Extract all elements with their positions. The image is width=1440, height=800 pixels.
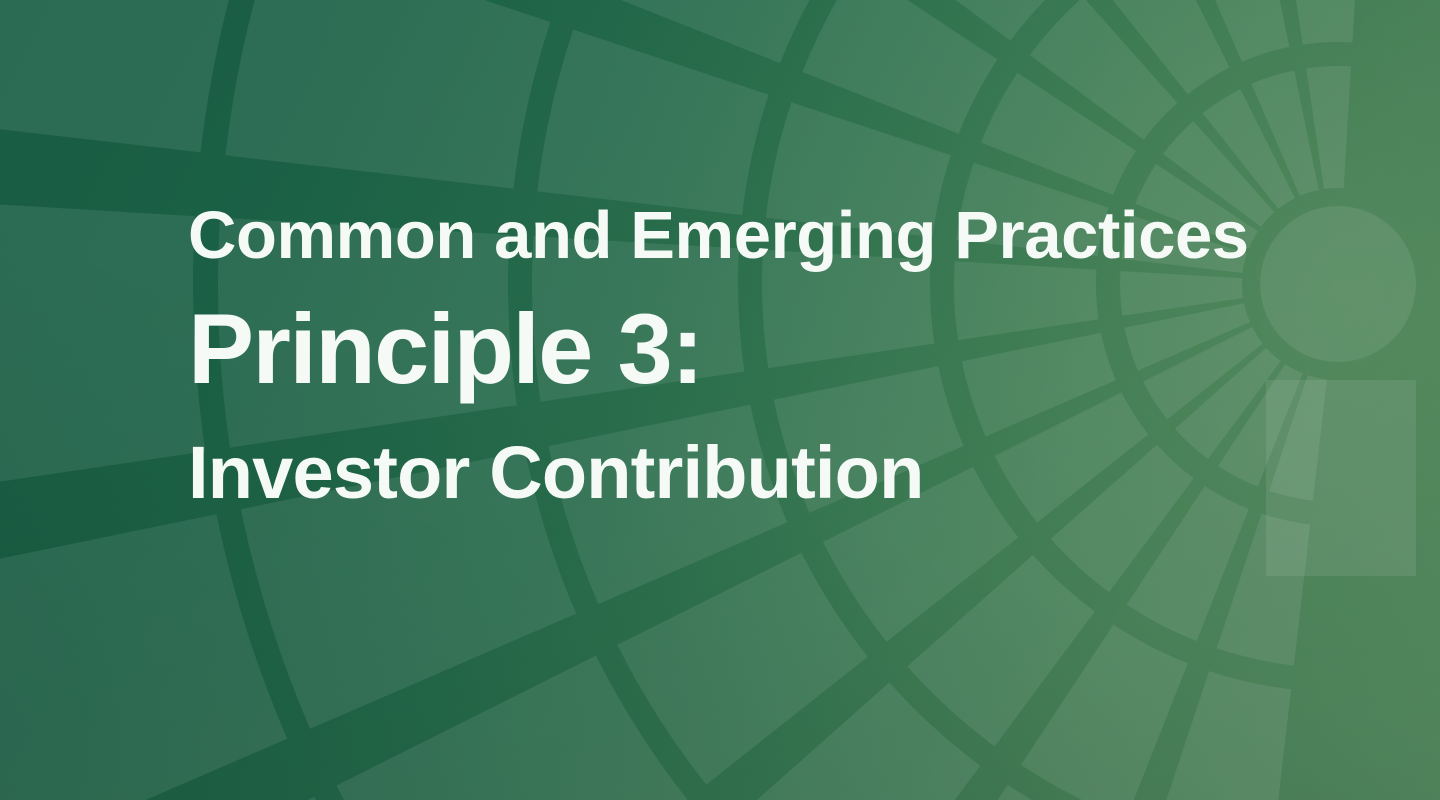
title-slide: Common and Emerging Practices Principle … xyxy=(0,0,1440,800)
slide-text-block: Common and Emerging Practices Principle … xyxy=(188,202,1318,510)
slide-eyebrow: Common and Emerging Practices xyxy=(188,202,1318,269)
slide-subtitle: Investor Contribution xyxy=(188,398,1318,510)
slide-title: Principle 3: xyxy=(188,269,1318,398)
